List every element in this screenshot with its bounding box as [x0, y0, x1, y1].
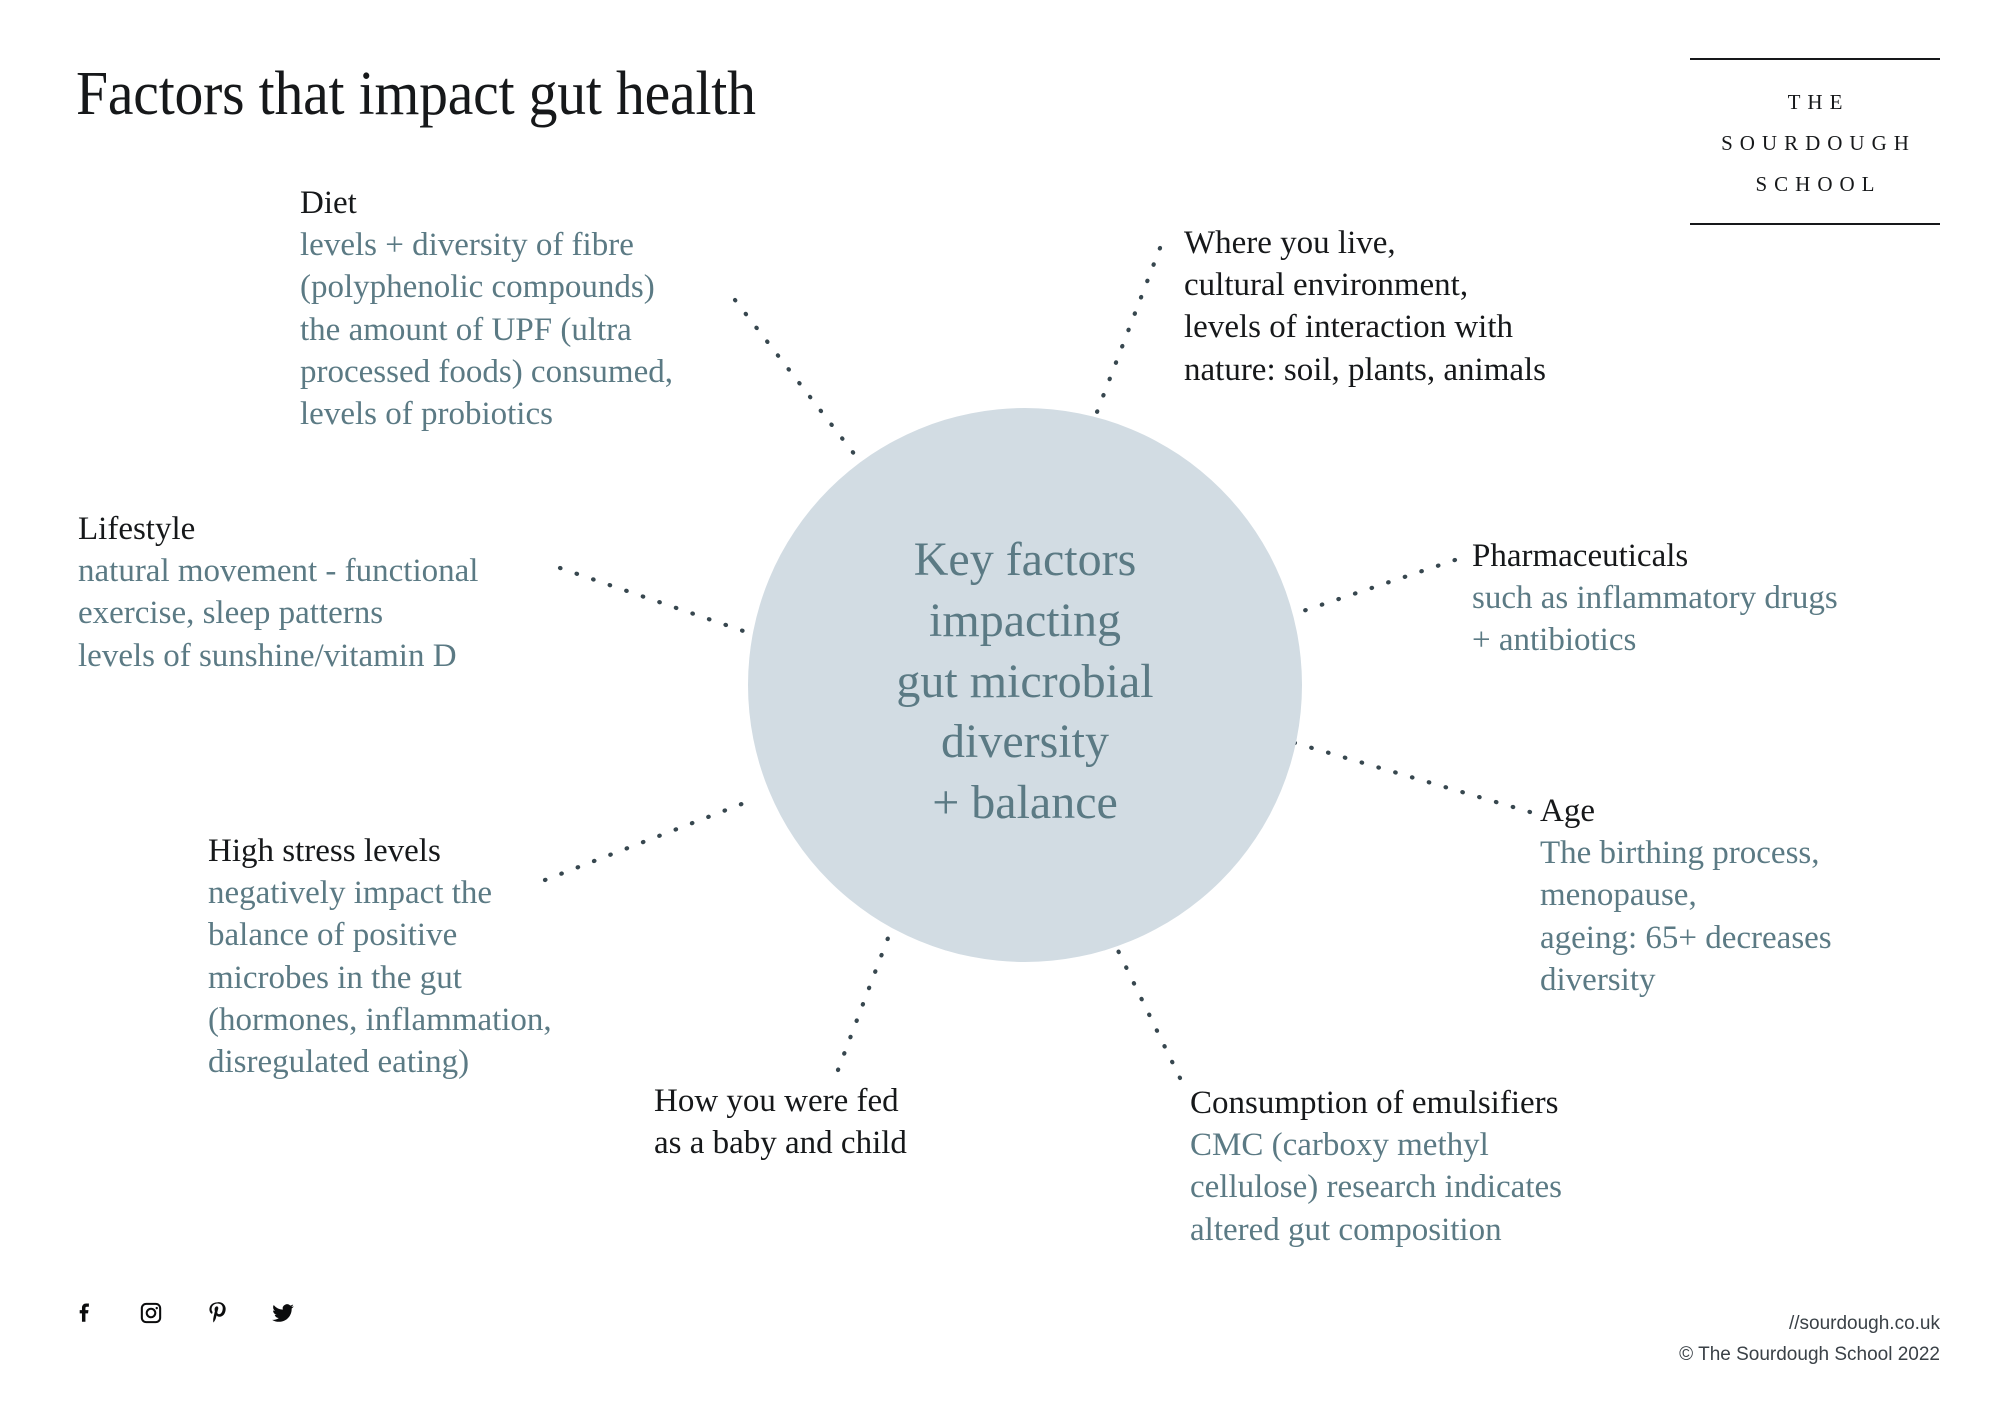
factor-pharmaceuticals: Pharmaceuticals such as inflammatory dru… — [1472, 535, 1942, 662]
factor-pharmaceuticals-heading: Pharmaceuticals — [1472, 535, 1942, 577]
factor-how-you-were-fed: How you were fed as a baby and child — [654, 1080, 994, 1164]
footer-meta: //sourdough.co.uk © The Sourdough School… — [1679, 1308, 1940, 1371]
factor-where-you-live-body: cultural environment, levels of interact… — [1184, 264, 1654, 391]
factor-lifestyle-heading: Lifestyle — [78, 508, 598, 550]
connector-pharmaceuticals — [1300, 560, 1455, 612]
brand-line-school: SCHOOL — [1690, 164, 1940, 205]
pinterest-icon[interactable] — [204, 1300, 230, 1326]
factor-lifestyle: Lifestyle natural movement - functional … — [78, 508, 598, 677]
footer-website[interactable]: //sourdough.co.uk — [1679, 1308, 1940, 1339]
factor-high-stress-levels: High stress levels negatively impact the… — [208, 830, 648, 1083]
facebook-icon[interactable] — [72, 1300, 98, 1326]
factor-diet-body: levels + diversity of fibre (polyphenoli… — [300, 224, 770, 435]
brand-rule-bottom — [1690, 223, 1940, 225]
connector-how-you-were-fed — [838, 938, 888, 1070]
factor-age-heading: Age — [1540, 790, 1940, 832]
factor-lifestyle-body: natural movement - functional exercise, … — [78, 550, 598, 677]
instagram-icon[interactable] — [138, 1300, 164, 1326]
factor-how-you-were-fed-heading: How you were fed — [654, 1080, 994, 1122]
connector-emulsifiers — [1108, 930, 1180, 1078]
factor-pharmaceuticals-body: such as inflammatory drugs + antibiotics — [1472, 577, 1942, 661]
social-links — [72, 1300, 296, 1326]
infographic-page: Factors that impact gut health THE SOURD… — [0, 0, 2000, 1414]
factor-age: Age The birthing process, menopause, age… — [1540, 790, 1940, 1001]
factor-how-you-were-fed-body: as a baby and child — [654, 1122, 994, 1164]
brand-wordmark: THE SOURDOUGH SCHOOL — [1690, 60, 1940, 223]
factor-diet: Diet levels + diversity of fibre (polyph… — [300, 182, 770, 435]
factor-emulsifiers-heading: Consumption of emulsifiers — [1190, 1082, 1660, 1124]
brand-line-the: THE — [1690, 82, 1940, 123]
connector-where-you-live — [1092, 248, 1160, 425]
factor-high-stress-levels-body: negatively impact the balance of positiv… — [208, 872, 648, 1083]
page-title: Factors that impact gut health — [76, 62, 756, 127]
factor-where-you-live-heading: Where you live, — [1184, 222, 1654, 264]
factor-emulsifiers: Consumption of emulsifiers CMC (carboxy … — [1190, 1082, 1660, 1251]
connector-age — [1285, 740, 1530, 812]
factor-diet-heading: Diet — [300, 182, 770, 224]
factor-where-you-live: Where you live, cultural environment, le… — [1184, 222, 1654, 391]
brand-logo: THE SOURDOUGH SCHOOL — [1690, 58, 1940, 225]
central-hub-circle: Key factors impacting gut microbial dive… — [748, 408, 1302, 962]
factor-age-body: The birthing process, menopause, ageing:… — [1540, 832, 1940, 1001]
factor-high-stress-levels-heading: High stress levels — [208, 830, 648, 872]
twitter-icon[interactable] — [270, 1300, 296, 1326]
brand-line-sourdough: SOURDOUGH — [1690, 123, 1940, 164]
central-hub-text: Key factors impacting gut microbial dive… — [896, 530, 1153, 841]
footer-copyright: © The Sourdough School 2022 — [1679, 1339, 1940, 1370]
factor-emulsifiers-body: CMC (carboxy methyl cellulose) research … — [1190, 1124, 1660, 1251]
